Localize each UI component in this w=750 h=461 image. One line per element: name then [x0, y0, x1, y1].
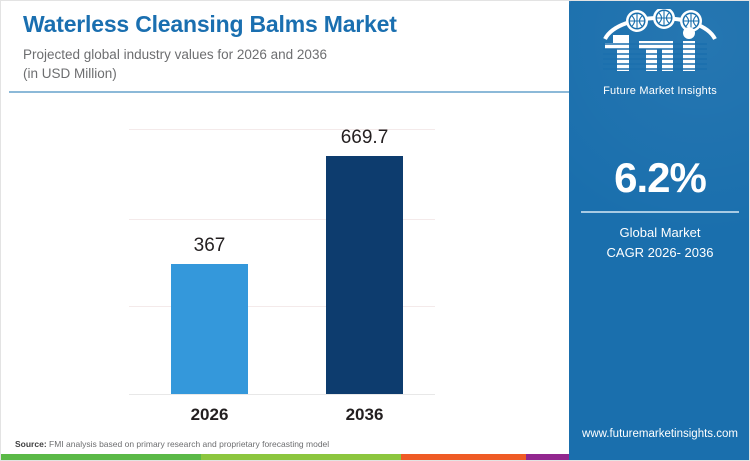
header-divider	[9, 91, 569, 93]
bar-chart: 367 2026 669.7 2036	[1, 97, 569, 427]
source-label: Source:	[15, 439, 47, 449]
segment-green	[1, 454, 201, 461]
brand-panel: Future Market Insights 6.2% Global Marke…	[569, 1, 750, 461]
content-area: Waterless Cleansing Balms Market Project…	[1, 1, 569, 461]
page-subtitle: Projected global industry values for 202…	[23, 45, 327, 83]
segment-purple	[526, 454, 569, 461]
category-label-2026: 2026	[140, 405, 280, 425]
segment-light-green	[201, 454, 401, 461]
axis-baseline	[129, 394, 435, 395]
source-text: FMI analysis based on primary research a…	[47, 439, 330, 449]
cagr-block: 6.2% Global Market CAGR 2026- 2036	[569, 153, 750, 263]
infographic-page: Waterless Cleansing Balms Market Project…	[0, 0, 750, 461]
fmi-logo-icon	[585, 9, 735, 83]
page-title: Waterless Cleansing Balms Market	[23, 11, 397, 38]
category-label-2036: 2036	[295, 405, 435, 425]
bar-2026: 367 2026	[171, 264, 248, 394]
plot-area: 367 2026 669.7 2036	[129, 129, 435, 394]
cagr-caption: Global Market CAGR 2026- 2036	[569, 223, 750, 263]
fmi-logo-tagline: Future Market Insights	[569, 85, 750, 97]
fmi-logo: Future Market Insights	[569, 9, 750, 97]
segment-orange	[401, 454, 526, 461]
bar-2036: 669.7 2036	[326, 156, 403, 394]
bottom-color-bar	[1, 454, 569, 461]
bar-value-2036: 669.7	[295, 127, 435, 149]
source-note: Source: FMI analysis based on primary re…	[15, 439, 329, 449]
website-url[interactable]: www.futuremarketinsights.com	[569, 428, 750, 440]
cagr-value: 6.2%	[569, 153, 750, 203]
bar-value-2026: 367	[140, 235, 280, 257]
cagr-divider	[581, 211, 739, 213]
